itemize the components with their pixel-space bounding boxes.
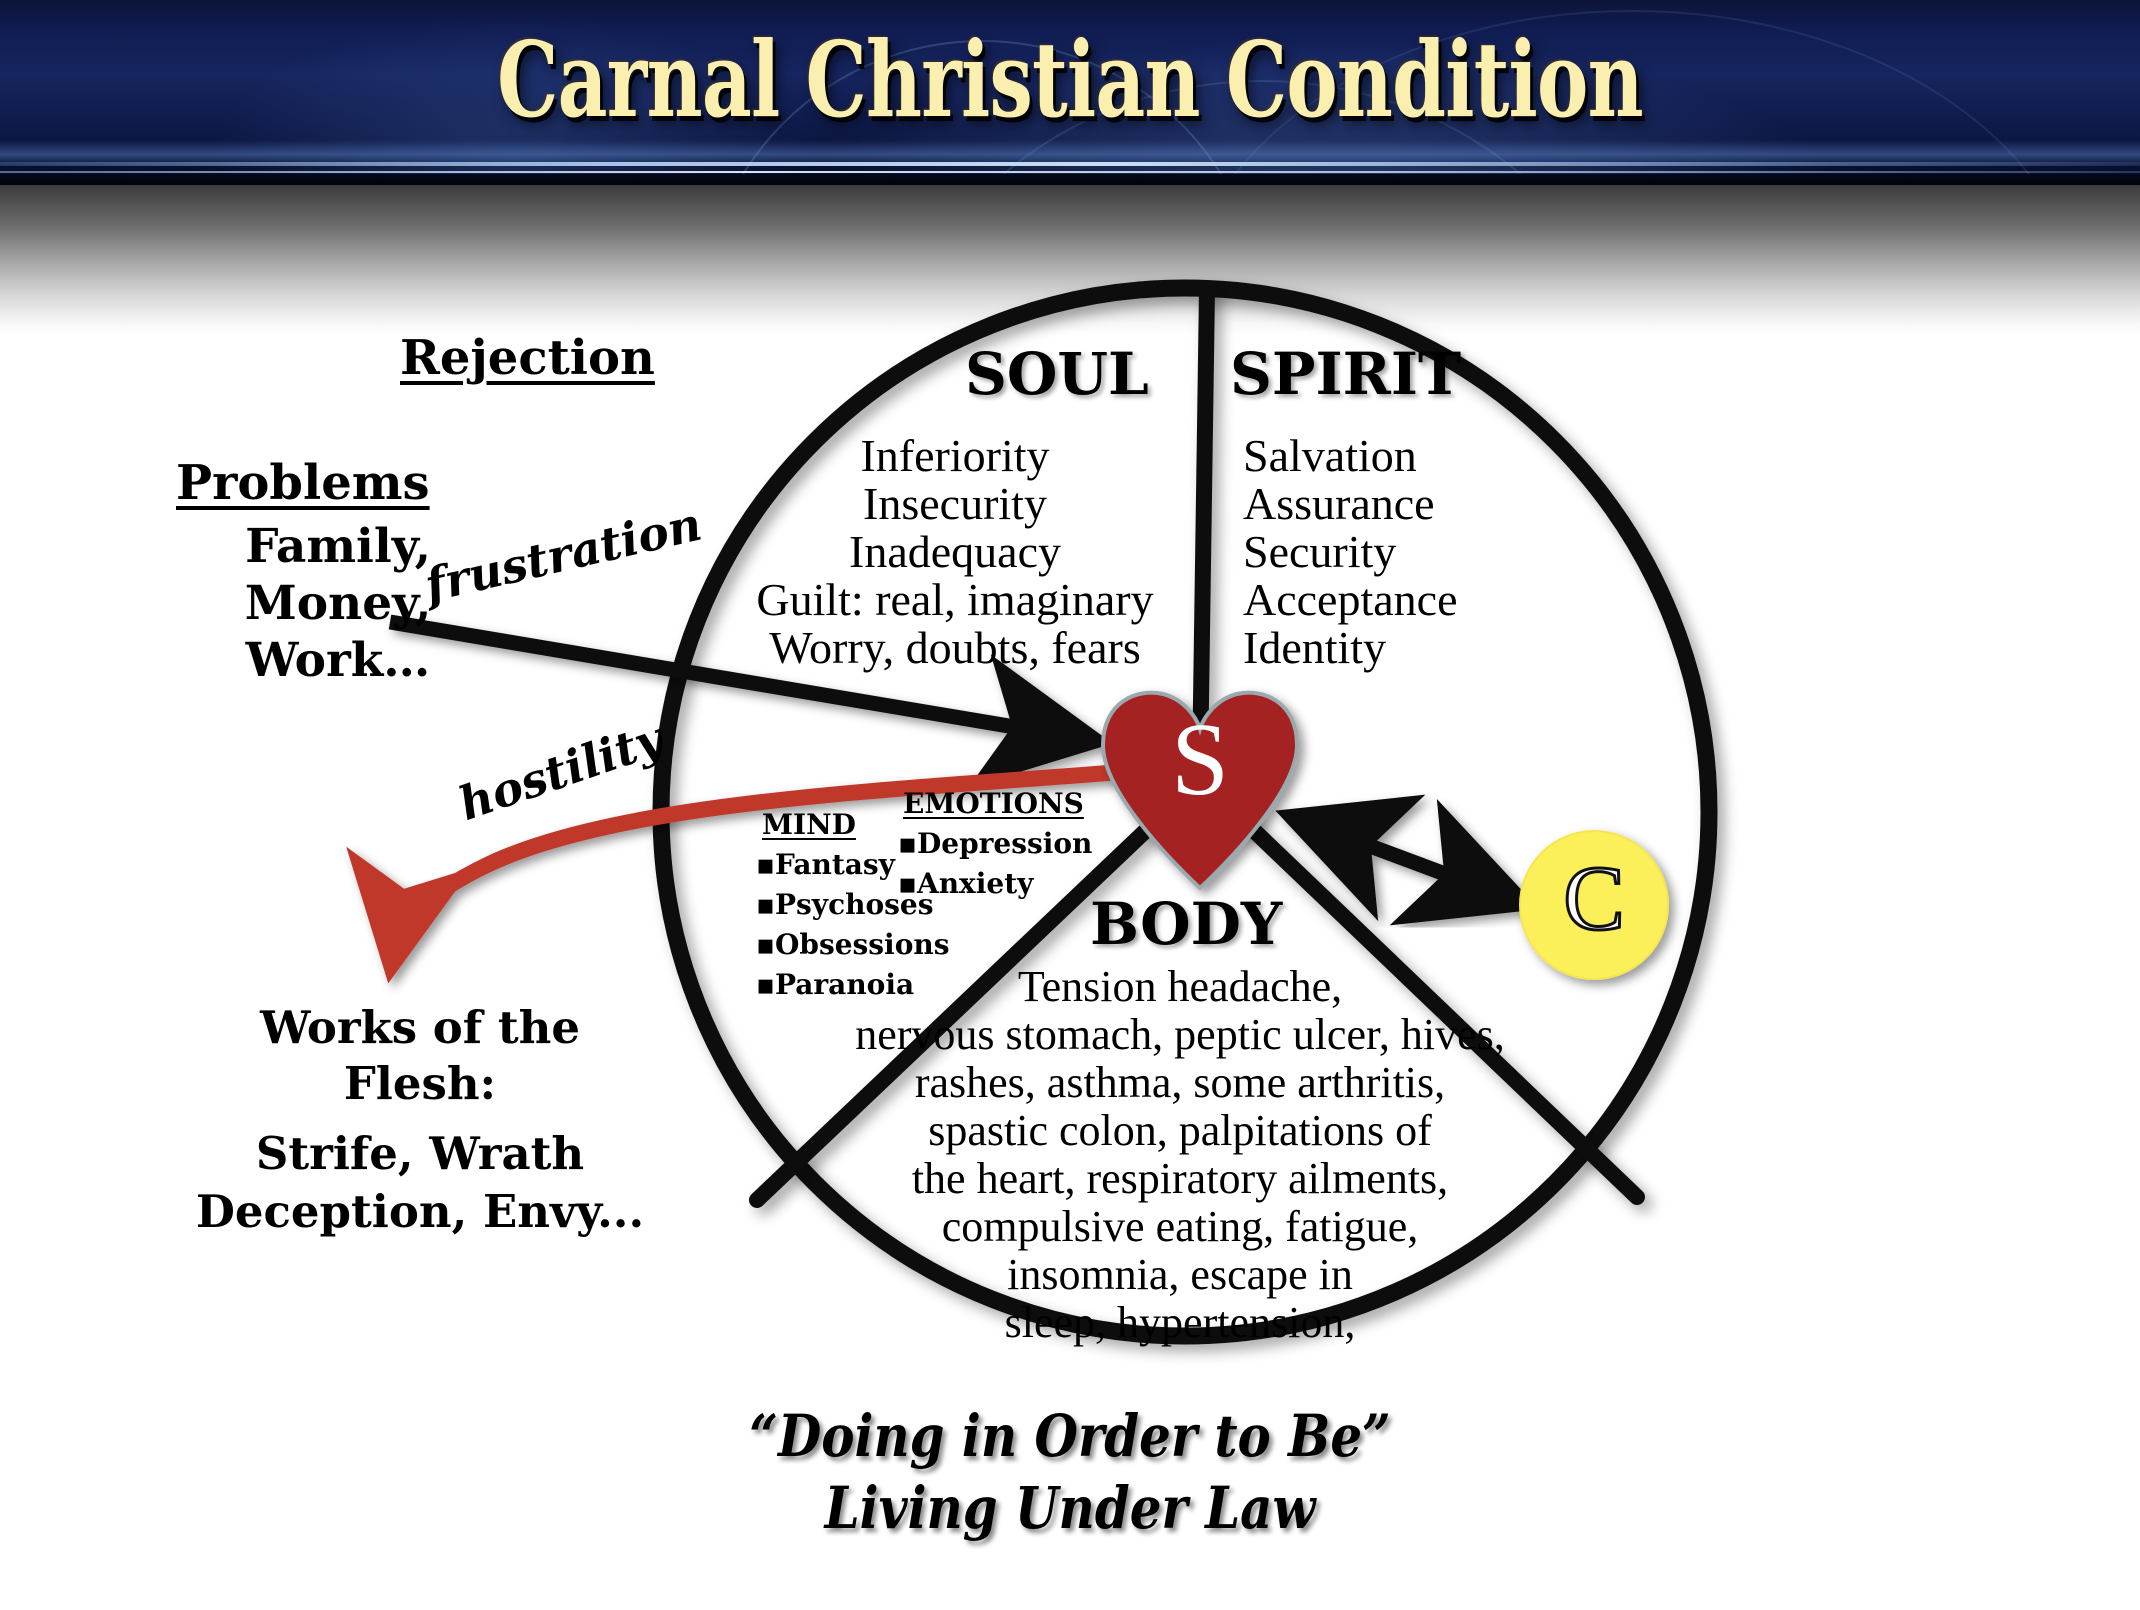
carnal-circle-letter: C [1520,845,1668,951]
works-of-the-flesh-heading: Works of the Flesh: [220,1000,620,1112]
problems-heading: Problems [176,455,430,511]
slide-caption: “Doing in Order to Be” Living Under Law [150,1400,1990,1544]
soul-sector-heading: SOUL [965,340,1149,408]
body-sector-items: Tension headache, nervous stomach, pepti… [830,963,1530,1347]
banner-highlight-line [0,171,2140,173]
slide-root: Carnal Christian Condition [0,0,2140,1610]
heart-self-letter: S [1103,700,1297,819]
title-banner: Carnal Christian Condition [0,0,2140,185]
banner-highlight-line [0,162,2140,166]
heart-to-c-arrow [1295,818,1520,902]
emotions-items: ▪Depression ▪Anxiety [898,824,1092,904]
frustration-label: frustration [420,497,706,613]
background-fade [0,185,2140,335]
spirit-sector-items: Salvation Assurance Security Acceptance … [1243,432,1458,672]
banner-footer-bar [0,174,2140,185]
hostility-label: hostility [452,711,670,831]
mind-heading: MIND [762,808,856,841]
emotions-heading: EMOTIONS [903,787,1084,820]
works-of-the-flesh-items: Strife, Wrath Deception, Envy... [190,1125,650,1241]
body-sector-heading: BODY [1090,890,1282,958]
soul-sector-items: Inferiority Insecurity Inadequacy Guilt:… [740,432,1170,672]
spirit-sector-heading: SPIRIT [1230,340,1461,408]
rejection-label: Rejection [400,330,655,386]
page-title: Carnal Christian Condition [278,18,1862,141]
